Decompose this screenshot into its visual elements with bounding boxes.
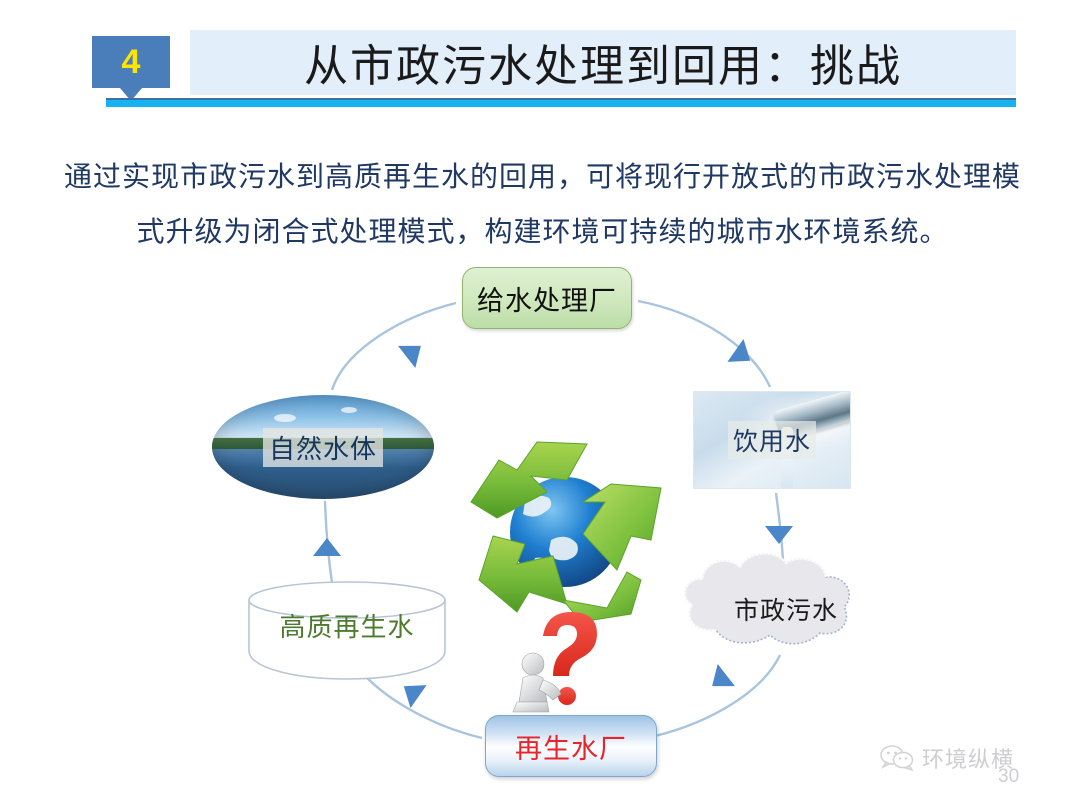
cycle-diagram: 给水处理厂 饮用水 市政污水 再生水厂 高质再生水 (0, 255, 1080, 810)
arrowhead-to-water-plant (398, 335, 429, 368)
node-municipal-sewage[interactable]: 市政污水 (700, 563, 872, 655)
arrowhead-to-natural-water (313, 538, 341, 556)
node-water-plant[interactable]: 给水处理厂 (462, 267, 632, 329)
node-reclaim-plant-label: 再生水厂 (485, 715, 657, 777)
node-drinking-water[interactable]: 饮用水 (693, 391, 851, 489)
page-number: 30 (998, 766, 1019, 788)
edge-natural-to-plant (332, 303, 456, 390)
wechat-icon (880, 745, 914, 771)
question-mark-dot (558, 687, 576, 705)
arrowhead-to-drinking (727, 339, 758, 372)
watermark: 环境纵横 (880, 742, 1014, 774)
node-natural-water-label: 自然水体 (212, 395, 434, 499)
arrowhead-to-reclaim-plant (704, 664, 735, 697)
slide: 从市政污水处理到回用：挑战 4 通过实现市政污水到高质再生水的回用，可将现行开放… (0, 0, 1080, 810)
slide-number-text: 4 (92, 36, 170, 88)
header-rule-thick (106, 100, 1016, 107)
node-reclaimed-water[interactable]: 高质再生水 (247, 581, 447, 669)
3d-figure-icon (513, 653, 561, 712)
question-mark-icon (543, 612, 597, 676)
slide-header: 从市政污水处理到回用：挑战 4 (0, 0, 1080, 118)
recycle-globe-question-icon (455, 440, 675, 720)
node-reclaimed-water-label: 高质再生水 (247, 581, 447, 669)
page-title: 从市政污水处理到回用：挑战 (190, 28, 1016, 96)
node-natural-water[interactable]: 自然水体 (212, 395, 434, 499)
body-paragraph: 通过实现市政污水到高质再生水的回用，可将现行开放式的市政污水处理模式升级为闭合式… (55, 150, 1030, 260)
node-municipal-sewage-label: 市政污水 (700, 563, 872, 655)
node-drinking-water-label-text: 饮用水 (728, 421, 816, 459)
arrowhead-to-sewage (765, 526, 793, 544)
node-drinking-water-label: 饮用水 (693, 391, 851, 489)
node-water-plant-label: 给水处理厂 (462, 267, 632, 329)
node-reclaim-plant[interactable]: 再生水厂 (485, 715, 657, 777)
edge-plant-to-drinking (638, 301, 770, 387)
node-natural-water-label-text: 自然水体 (263, 428, 383, 467)
